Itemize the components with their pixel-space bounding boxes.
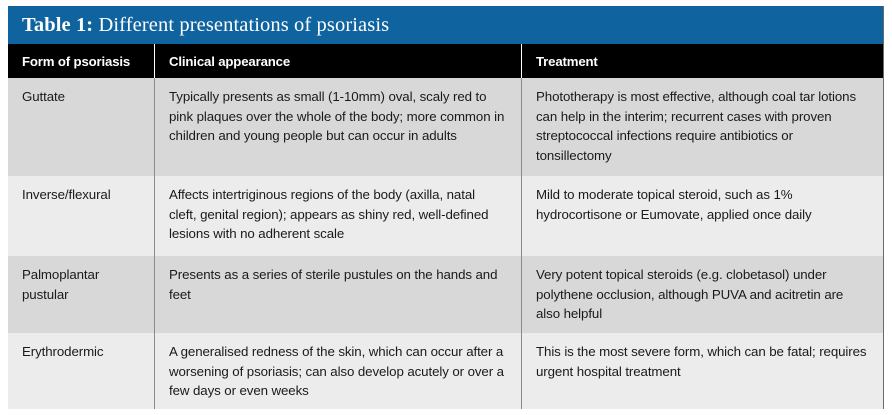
cell-form: Erythrodermic [8,333,154,409]
table-caption: Table 1: Different presentations of psor… [22,14,389,37]
cell-clinical-appearance: Typically presents as small (1-10mm) ova… [154,78,521,176]
table-row: Inverse/flexural Affects intertriginous … [8,176,883,256]
cell-form: Inverse/flexural [8,176,154,256]
table-title-bar: Table 1: Different presentations of psor… [8,6,883,44]
table-header-row: Form of psoriasis Clinical appearance Tr… [8,44,883,78]
table-title-text: Different presentations of psoriasis [93,14,389,36]
cell-clinical-appearance: A generalised redness of the skin, which… [154,333,521,409]
table-row: Guttate Typically presents as small (1-1… [8,78,883,176]
cell-treatment: Mild to moderate topical steroid, such a… [521,176,883,256]
cell-form: Palmoplantar pustular [8,256,154,333]
column-header-treatment: Treatment [521,44,883,78]
cell-treatment: This is the most severe form, which can … [521,333,883,409]
column-header-form: Form of psoriasis [8,44,154,78]
table-row: Erythrodermic A generalised redness of t… [8,333,883,409]
column-header-clinical-appearance: Clinical appearance [154,44,521,78]
table-row: Palmoplantar pustular Presents as a seri… [8,256,883,333]
cell-treatment: Phototherapy is most effective, although… [521,78,883,176]
cell-treatment: Very potent topical steroids (e.g. clobe… [521,256,883,333]
cell-clinical-appearance: Affects intertriginous regions of the bo… [154,176,521,256]
table-number-label: Table 1: [22,14,93,36]
cell-clinical-appearance: Presents as a series of sterile pustules… [154,256,521,333]
cell-form: Guttate [8,78,154,176]
psoriasis-table: Table 1: Different presentations of psor… [8,6,884,409]
